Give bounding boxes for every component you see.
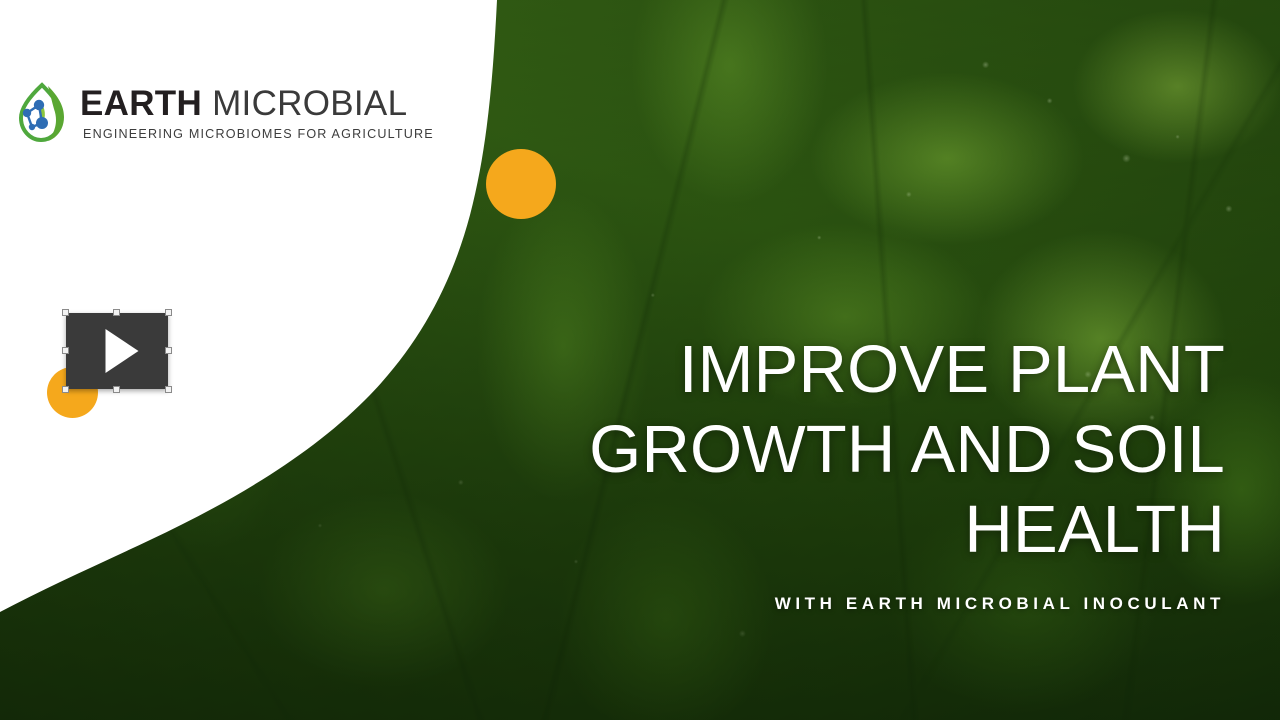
slide-subtitle: WITH EARTH MICROBIAL INOCULANT [525, 594, 1225, 614]
logo-tagline: ENGINEERING MICROBIOMES FOR AGRICULTURE [83, 127, 434, 141]
resize-handle-se[interactable] [165, 386, 172, 393]
resize-handle-w[interactable] [62, 347, 69, 354]
resize-handle-s[interactable] [113, 386, 120, 393]
logo-text-block: EARTH MICROBIAL ENGINEERING MICROBIOMES … [80, 85, 434, 141]
resize-handle-n[interactable] [113, 309, 120, 316]
resize-handle-e[interactable] [165, 347, 172, 354]
play-triangle-icon[interactable] [106, 329, 139, 373]
brand-logo: EARTH MICROBIAL ENGINEERING MICROBIOMES … [12, 82, 434, 144]
logo-wordmark: EARTH MICROBIAL [80, 85, 434, 122]
slide-title: IMPROVE PLANT GROWTH AND SOIL HEALTH [525, 330, 1225, 570]
accent-circle-large [486, 149, 556, 219]
logo-word-earth: EARTH [80, 84, 202, 123]
resize-handle-ne[interactable] [165, 309, 172, 316]
headline-block: IMPROVE PLANT GROWTH AND SOIL HEALTH WIT… [525, 330, 1225, 614]
logo-word-microbial: MICROBIAL [212, 84, 407, 123]
leaf-microbe-logo-icon [12, 82, 70, 144]
resize-handle-nw[interactable] [62, 309, 69, 316]
video-placeholder[interactable] [66, 313, 168, 389]
title-slide: EARTH MICROBIAL ENGINEERING MICROBIOMES … [0, 0, 1280, 720]
resize-handle-sw[interactable] [62, 386, 69, 393]
